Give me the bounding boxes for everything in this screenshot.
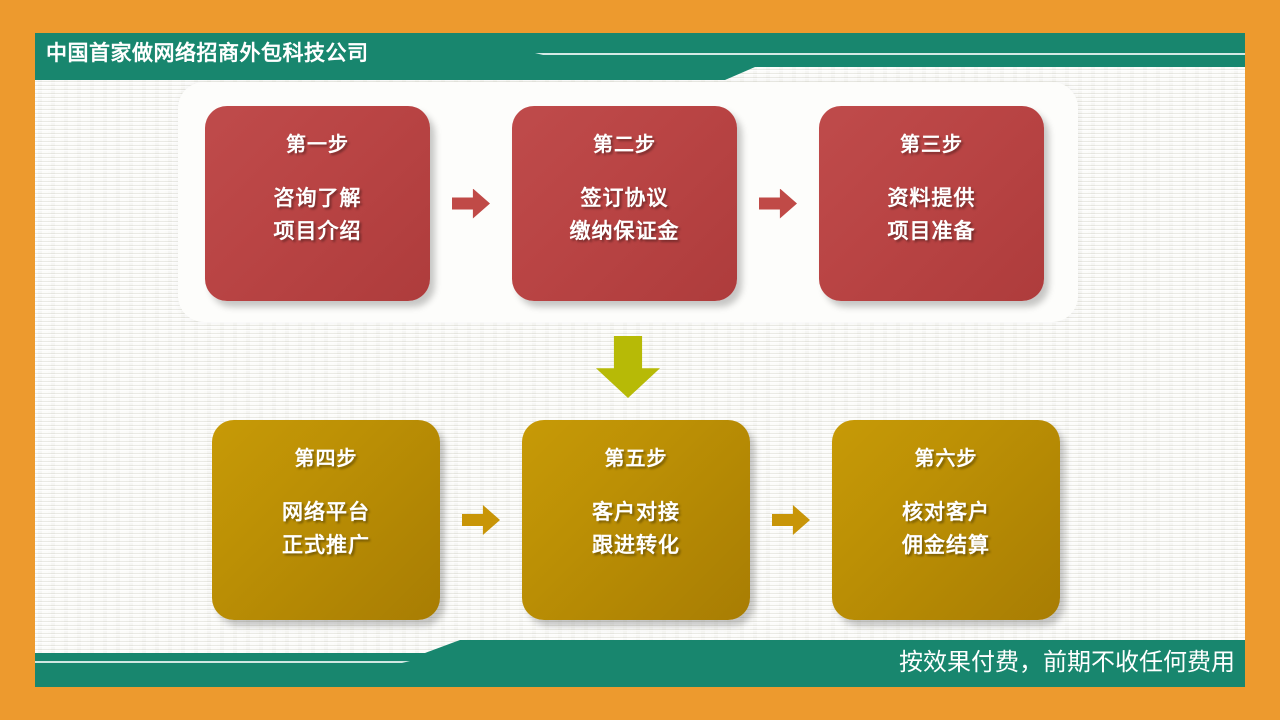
step-card-3[interactable]: 第三步 资料提供 项目准备 (819, 106, 1044, 301)
step-2-title: 第二步 (593, 128, 656, 157)
step-3-title: 第三步 (900, 128, 963, 157)
step-card-5[interactable]: 第五步 客户对接 跟进转化 (522, 420, 750, 620)
step-4-line1: 网络平台 (282, 497, 370, 530)
footer-tagline: 按效果付费，前期不收任何费用 (899, 644, 1235, 682)
step-card-2[interactable]: 第二步 签订协议 缴纳保证金 (512, 106, 737, 301)
step-5-line1: 客户对接 (592, 497, 680, 530)
step-card-4[interactable]: 第四步 网络平台 正式推广 (212, 420, 440, 620)
step-6-line2: 佣金结算 (902, 530, 990, 563)
arrow-right-icon-1 (452, 189, 490, 219)
slide-canvas: 中国首家做网络招商外包科技公司 第一步 咨询了解 项目介绍 第二步 签订协议 缴… (0, 0, 1280, 720)
flow-row-top: 第一步 咨询了解 项目介绍 第二步 签订协议 缴纳保证金 第三步 资料提供 项目… (205, 106, 1044, 301)
step-6-line1: 核对客户 (902, 497, 990, 530)
step-1-line2: 项目介绍 (274, 216, 362, 249)
step-3-line2: 项目准备 (888, 216, 976, 249)
step-5-title: 第五步 (605, 442, 668, 471)
flow-row-bottom: 第四步 网络平台 正式推广 第五步 客户对接 跟进转化 第六步 核对客户 佣金结… (212, 420, 1060, 620)
page-title: 中国首家做网络招商外包科技公司 (46, 36, 369, 72)
step-5-line2: 跟进转化 (592, 530, 680, 563)
step-2-line2: 缴纳保证金 (570, 216, 680, 249)
step-2-line1: 签订协议 (581, 183, 669, 216)
step-3-line1: 资料提供 (888, 183, 976, 216)
arrow-right-icon-3 (462, 505, 500, 535)
footer-hairline (35, 661, 410, 663)
header-hairline (535, 53, 1245, 55)
arrow-right-icon-4 (772, 505, 810, 535)
step-card-1[interactable]: 第一步 咨询了解 项目介绍 (205, 106, 430, 301)
step-1-title: 第一步 (286, 128, 349, 157)
step-card-6[interactable]: 第六步 核对客户 佣金结算 (832, 420, 1060, 620)
step-4-line2: 正式推广 (282, 530, 370, 563)
step-4-title: 第四步 (295, 442, 358, 471)
arrow-right-icon-2 (759, 189, 797, 219)
step-1-line1: 咨询了解 (274, 183, 362, 216)
step-6-title: 第六步 (915, 442, 978, 471)
